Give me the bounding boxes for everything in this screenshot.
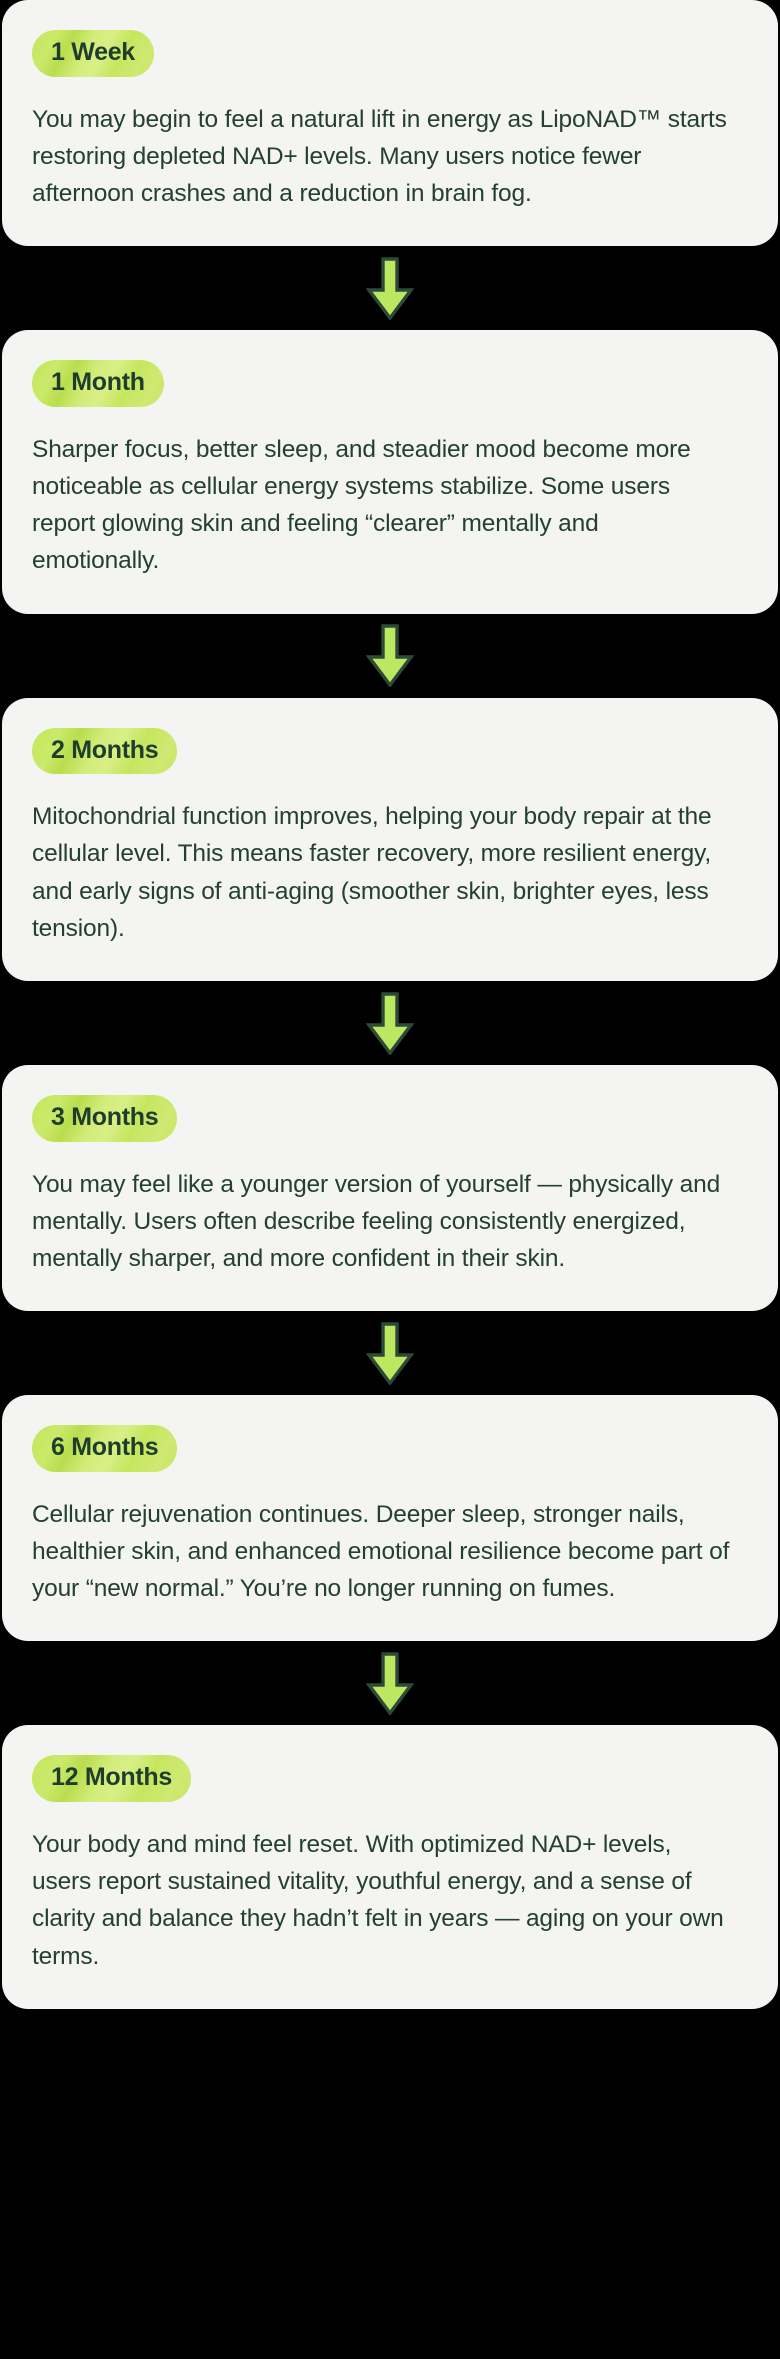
timeline-badge: 1 Week (32, 30, 154, 77)
down-arrow-icon (366, 1322, 414, 1385)
timeline-card: 6 Months Cellular rejuvenation continues… (2, 1395, 778, 1641)
down-arrow-icon (366, 257, 414, 320)
timeline-description: Mitochondrial function improves, helping… (32, 798, 732, 947)
timeline-card: 12 Months Your body and mind feel reset.… (2, 1725, 778, 2008)
timeline-badge: 6 Months (32, 1425, 177, 1472)
timeline-badge: 2 Months (32, 728, 177, 775)
down-arrow-icon (366, 624, 414, 687)
timeline-description: Cellular rejuvenation continues. Deeper … (32, 1496, 732, 1608)
timeline-card: 3 Months You may feel like a younger ver… (2, 1065, 778, 1311)
timeline-connector (0, 246, 780, 330)
timeline-card: 2 Months Mitochondrial function improves… (2, 698, 778, 981)
benefits-timeline: 1 Week You may begin to feel a natural l… (0, 0, 780, 2009)
down-arrow-icon (366, 992, 414, 1055)
timeline-card: 1 Month Sharper focus, better sleep, and… (2, 330, 778, 613)
timeline-badge: 12 Months (32, 1755, 191, 1802)
timeline-connector (0, 1311, 780, 1395)
timeline-description: You may begin to feel a natural lift in … (32, 101, 732, 213)
timeline-description: Sharper focus, better sleep, and steadie… (32, 431, 732, 580)
timeline-description: Your body and mind feel reset. With opti… (32, 1826, 732, 1975)
timeline-connector (0, 981, 780, 1065)
timeline-badge: 3 Months (32, 1095, 177, 1142)
timeline-card: 1 Week You may begin to feel a natural l… (2, 0, 778, 246)
down-arrow-icon (366, 1652, 414, 1715)
timeline-description: You may feel like a younger version of y… (32, 1166, 732, 1278)
timeline-badge: 1 Month (32, 360, 164, 407)
timeline-connector (0, 614, 780, 698)
timeline-connector (0, 1641, 780, 1725)
